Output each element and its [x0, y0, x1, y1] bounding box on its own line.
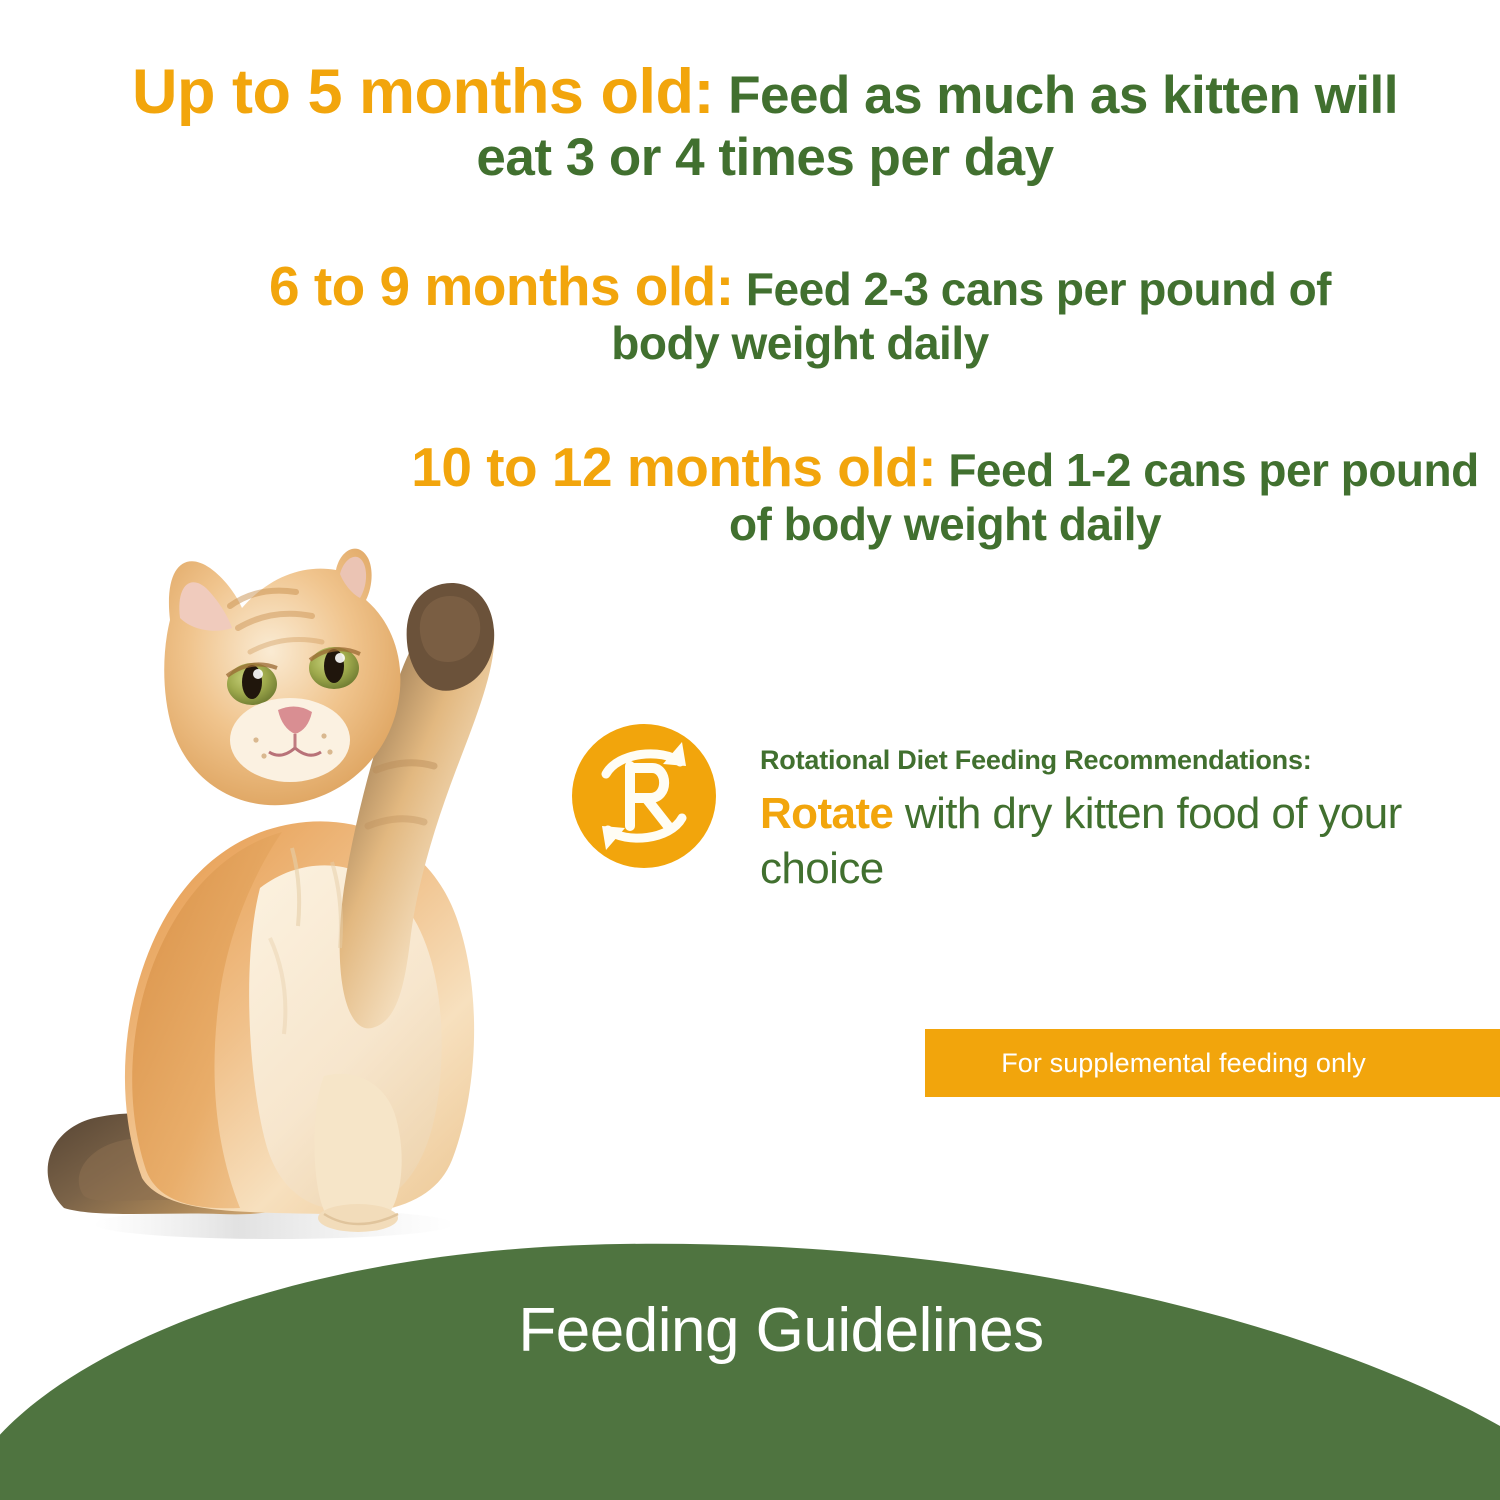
- rotational-emphasis: Rotate: [760, 789, 893, 838]
- guideline-row-1: 6 to 9 months old: Feed 2-3 cans per pou…: [255, 256, 1345, 369]
- supplemental-banner-label: For supplemental feeding only: [1001, 1048, 1424, 1079]
- rotation-r-icon: [570, 722, 718, 870]
- supplemental-feeding-banner: For supplemental feeding only: [925, 1029, 1500, 1097]
- rotational-body: Rotate with dry kitten food of your choi…: [760, 786, 1470, 896]
- feeding-guidelines-infographic: Up to 5 months old: Feed as much as kitt…: [0, 0, 1500, 1500]
- guideline-age-0: Up to 5 months old:: [132, 57, 714, 127]
- rotational-diet-text: Rotational Diet Feeding Recommendations:…: [760, 744, 1470, 896]
- guideline-row-2: 10 to 12 months old: Feed 1-2 cans per p…: [410, 437, 1480, 550]
- guideline-age-1: 6 to 9 months old:: [269, 255, 734, 317]
- guideline-age-2: 10 to 12 months old:: [411, 436, 936, 498]
- guideline-row-0: Up to 5 months old: Feed as much as kitt…: [100, 57, 1430, 187]
- footer-title: Feeding Guidelines: [0, 1295, 1500, 1366]
- rotational-heading: Rotational Diet Feeding Recommendations:: [760, 744, 1470, 776]
